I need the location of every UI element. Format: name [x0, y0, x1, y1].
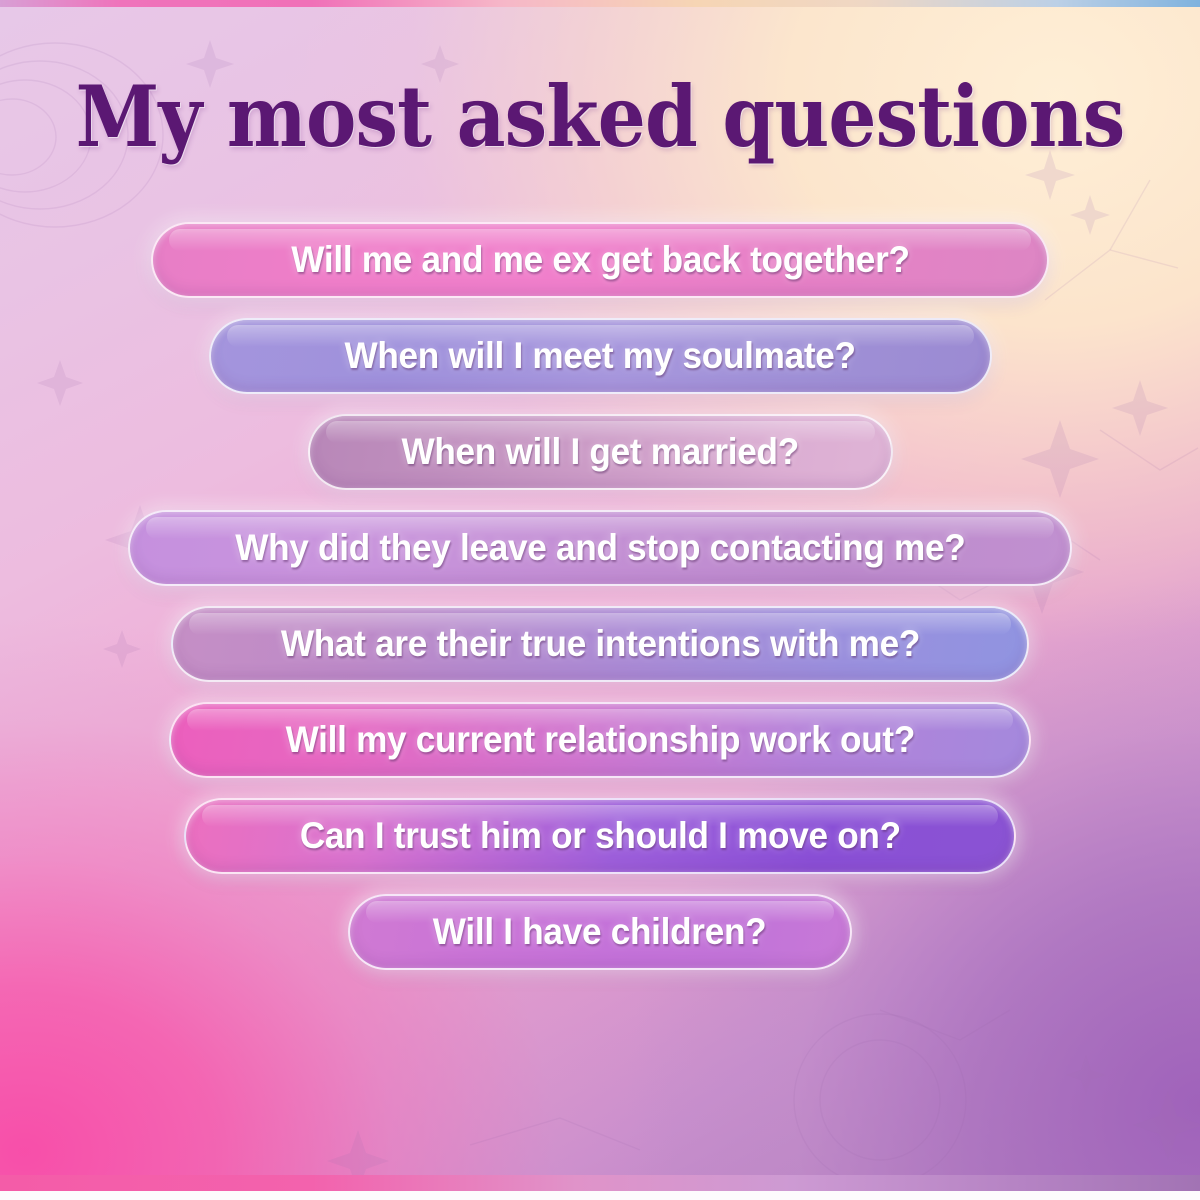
bottom-edge-strip: [0, 1191, 1200, 1200]
poster-canvas: My most asked questions Will me and me e…: [0, 0, 1200, 1200]
question-pill-6[interactable]: Will my current relationship work out?: [169, 702, 1031, 778]
page-title: My most asked questions: [60, 74, 1140, 160]
question-pill-2[interactable]: When will I meet my soulmate?: [209, 318, 992, 394]
question-pill-8[interactable]: Will I have children?: [348, 894, 852, 970]
question-pill-7[interactable]: Can I trust him or should I move on?: [184, 798, 1016, 874]
question-pill-label: When will I meet my soulmate?: [344, 336, 855, 376]
top-edge-strip: [0, 0, 1200, 7]
question-pill-label: Will I have children?: [433, 912, 767, 952]
question-pill-label: Can I trust him or should I move on?: [300, 816, 901, 856]
question-pill-label: Why did they leave and stop contacting m…: [235, 528, 965, 568]
question-pill-1[interactable]: Will me and me ex get back together?: [151, 222, 1049, 298]
question-pill-5[interactable]: What are their true intentions with me?: [171, 606, 1029, 682]
question-pill-label: When will I get married?: [401, 432, 798, 472]
question-pill-label: What are their true intentions with me?: [280, 624, 919, 664]
question-pill-3[interactable]: When will I get married?: [308, 414, 893, 490]
bottom-edge-band: [0, 1175, 1200, 1191]
question-list: Will me and me ex get back together? Whe…: [0, 222, 1200, 970]
question-pill-label: Will my current relationship work out?: [285, 720, 914, 760]
question-pill-label: Will me and me ex get back together?: [291, 240, 909, 280]
question-pill-4[interactable]: Why did they leave and stop contacting m…: [128, 510, 1072, 586]
